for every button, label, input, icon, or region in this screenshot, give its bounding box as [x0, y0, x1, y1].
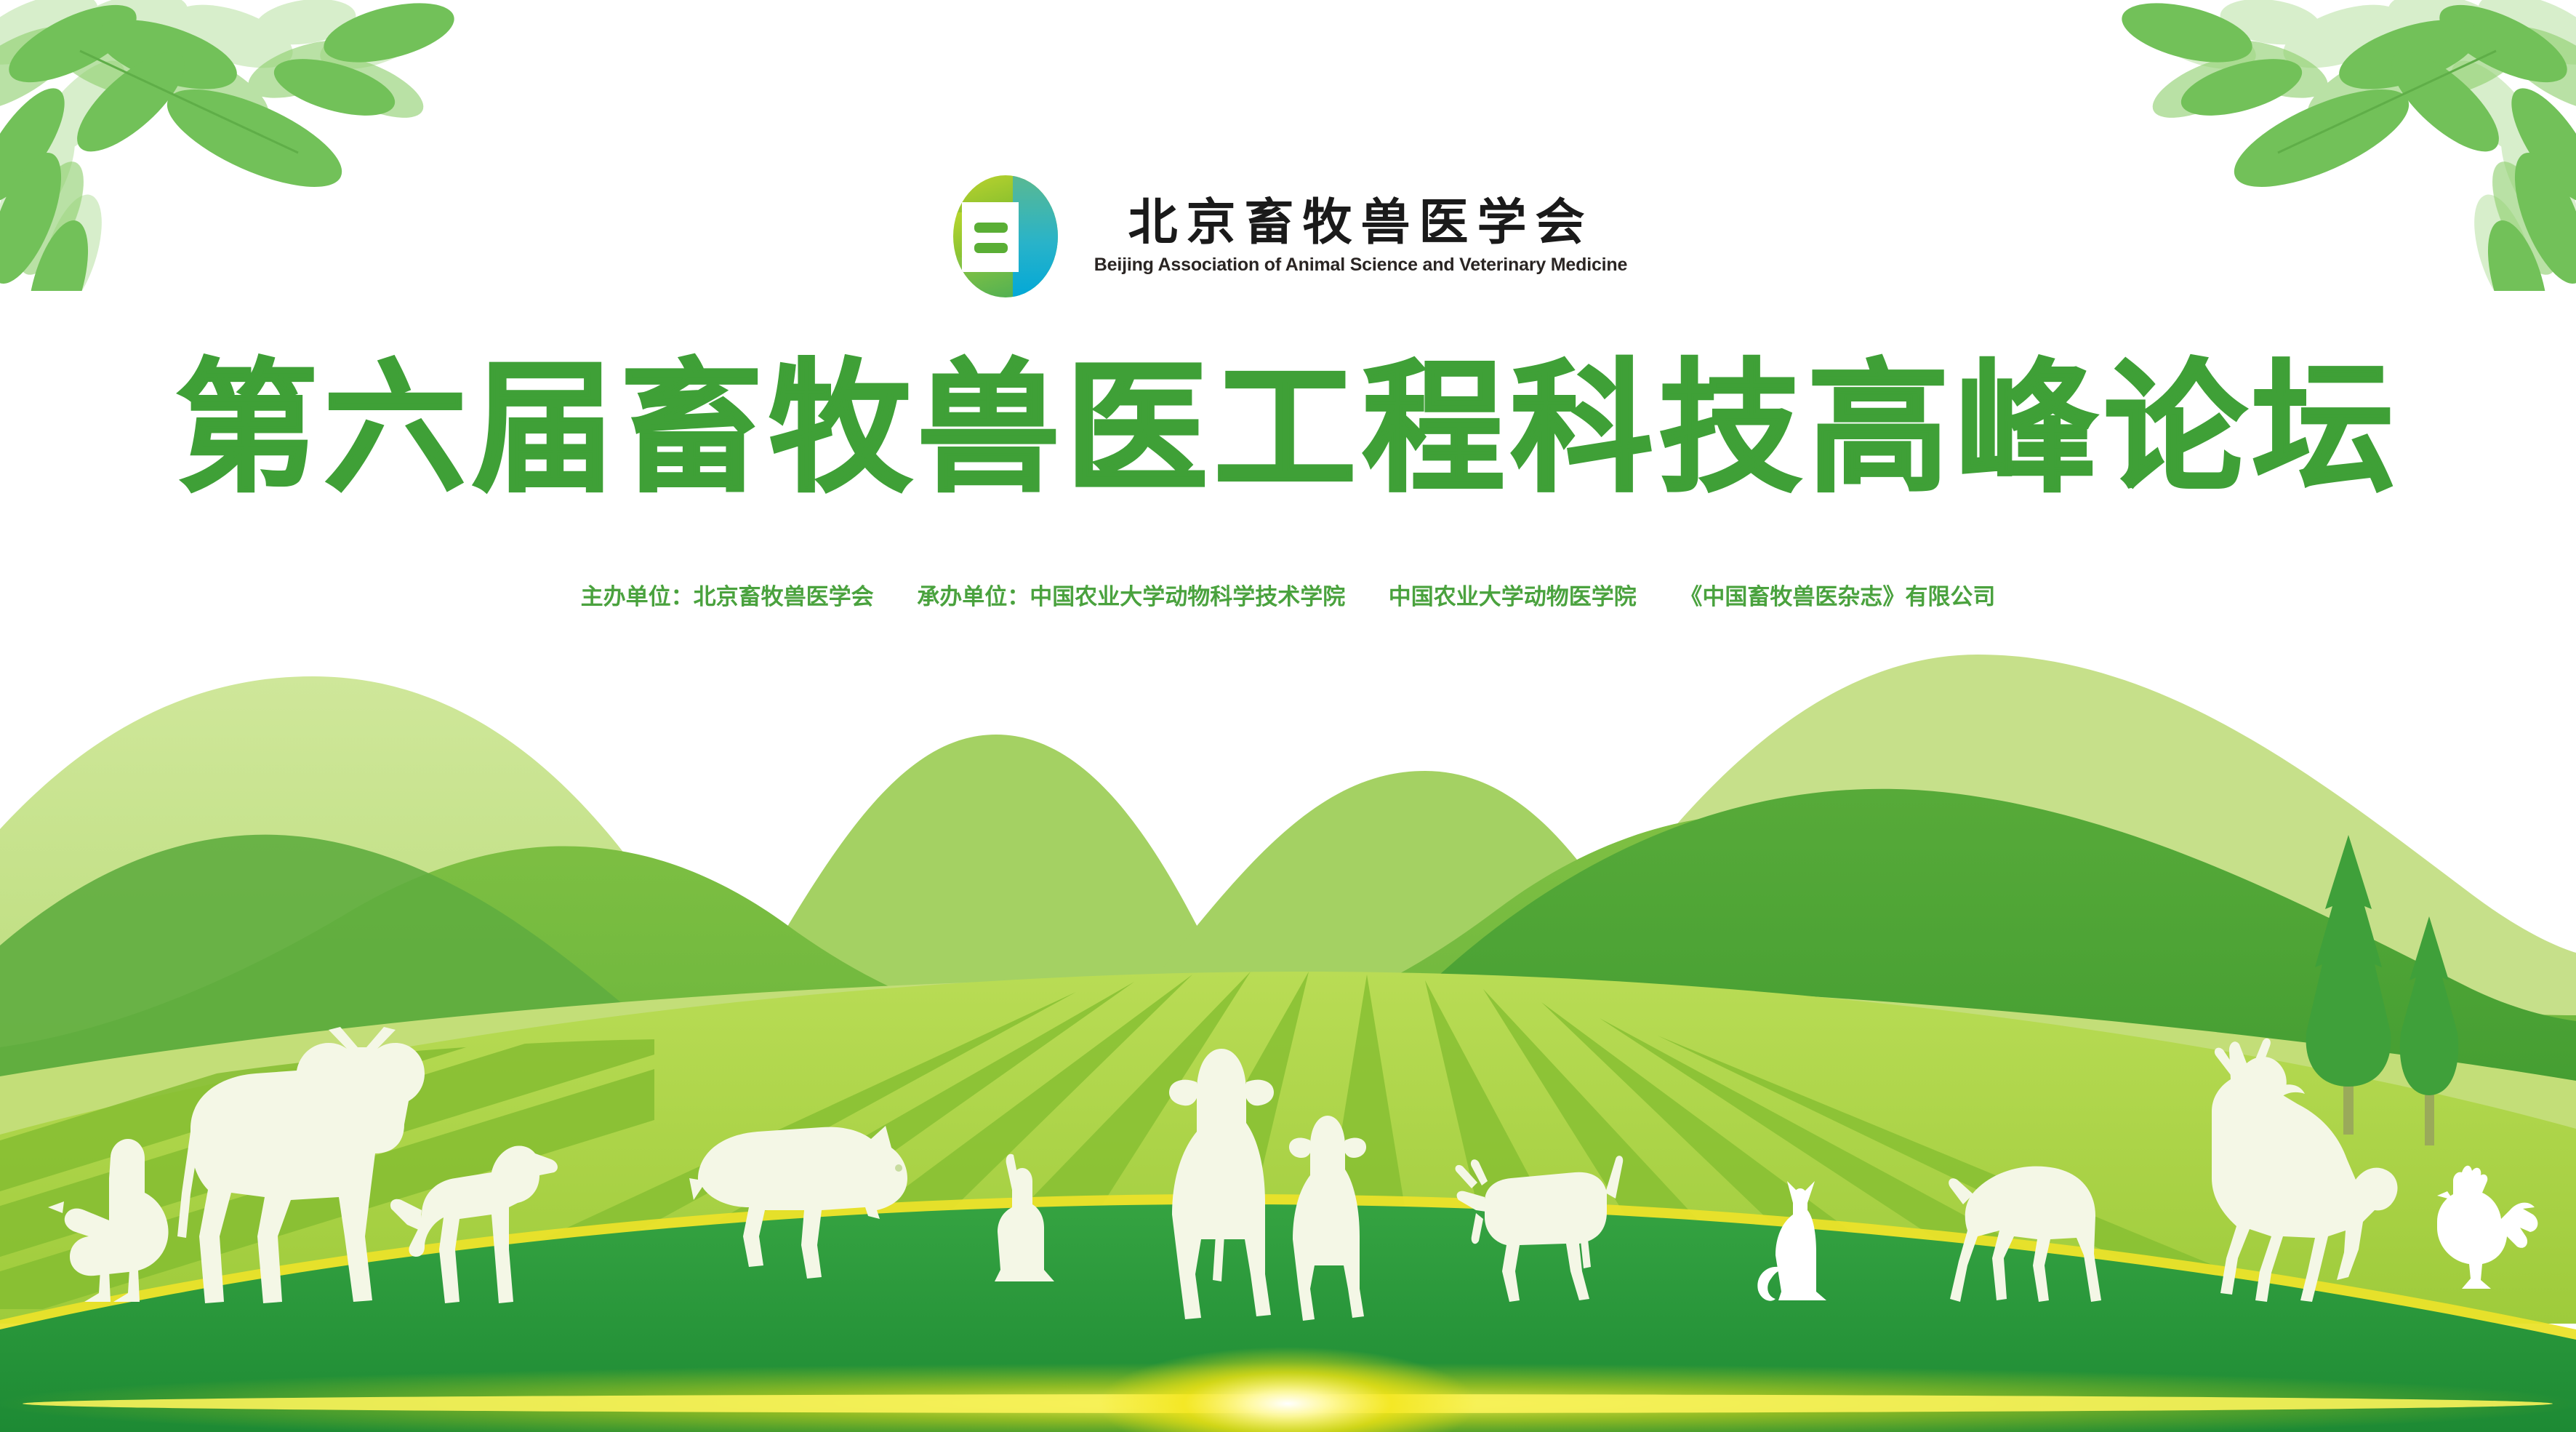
beijing-association-b-emblem-icon	[949, 172, 1074, 301]
logo-organization-cn: 北京畜牧兽医学会	[1128, 198, 1593, 247]
poster: 北京畜牧兽医学会 Beijing Association of Animal S…	[0, 0, 2576, 1432]
organizer-host: 主办单位：北京畜牧兽医学会	[581, 578, 874, 611]
page-title: 第六届畜牧兽医工程科技高峰论坛	[0, 358, 2576, 500]
organizer-co-host-2: 中国农业大学动物医学院	[1389, 578, 1637, 611]
logo-organization-en: Beijing Association of Animal Science an…	[1094, 255, 1627, 276]
logo-text-group: 北京畜牧兽医学会 Beijing Association of Animal S…	[1094, 198, 1627, 276]
organizer-co-host-1: 承办单位：中国农业大学动物科学技术学院	[917, 578, 1345, 611]
organizer-co-host-3: 《中国畜牧兽医杂志》有限公司	[1680, 578, 1995, 611]
organizers-line: 主办单位：北京畜牧兽医学会 承办单位：中国农业大学动物科学技术学院 中国农业大学…	[0, 578, 2576, 611]
association-logo: 北京畜牧兽医学会 Beijing Association of Animal S…	[0, 172, 2576, 301]
animal-cow-center	[1169, 1049, 1274, 1319]
